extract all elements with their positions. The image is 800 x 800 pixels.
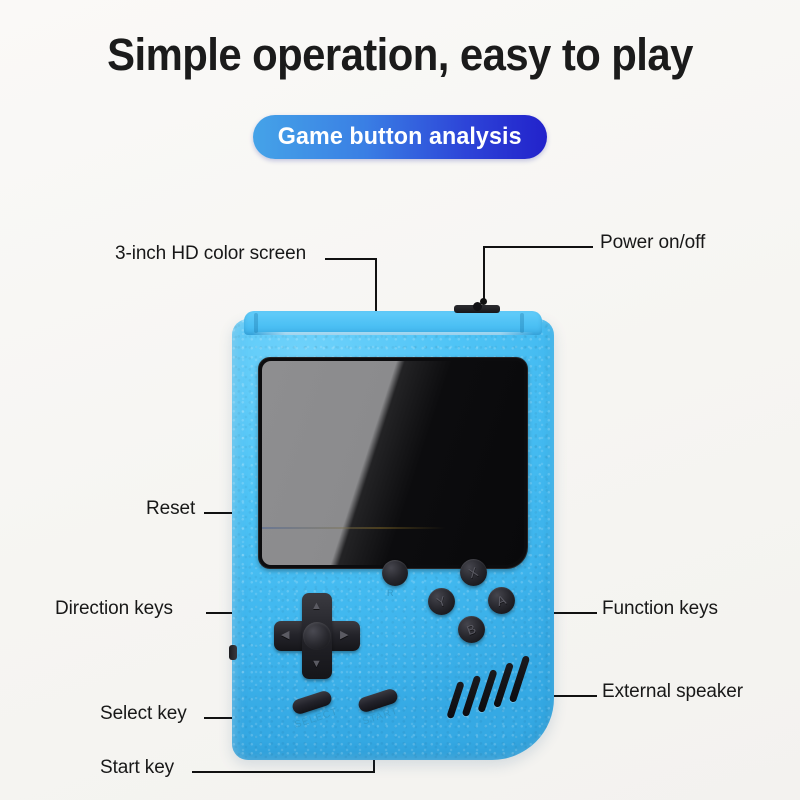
leader-line-power-horizontal: [483, 246, 593, 248]
game-console: ▲ ▼ ◀ ▶ R X Y B A SELECT START: [232, 305, 554, 760]
b-button-label: B: [465, 621, 478, 638]
screen-display: [262, 361, 524, 565]
x-button[interactable]: X: [460, 559, 487, 586]
screen-bezel: [258, 357, 528, 569]
callout-label-reset: Reset: [146, 498, 195, 520]
y-button-label: Y: [435, 593, 448, 610]
callout-label-start: Start key: [100, 757, 174, 779]
a-button-label: A: [495, 592, 508, 609]
power-switch-nub[interactable]: [473, 302, 482, 311]
b-button[interactable]: B: [458, 616, 485, 643]
console-seam: [252, 332, 534, 335]
callout-label-direction: Direction keys: [55, 598, 173, 620]
leader-line-start-horizontal: [192, 771, 375, 773]
section-badge: Game button analysis: [253, 115, 547, 159]
section-badge-label: Game button analysis: [278, 123, 522, 151]
callout-label-speaker: External speaker: [602, 681, 743, 703]
reset-button-label: R: [387, 588, 394, 598]
callout-label-screen: 3-inch HD color screen: [115, 243, 306, 265]
console-notch-right: [520, 313, 524, 333]
side-port: [229, 645, 237, 660]
page-title: Simple operation, easy to play: [28, 26, 772, 84]
dpad-up-icon[interactable]: ▲: [311, 601, 322, 612]
dpad-right-icon[interactable]: ▶: [340, 630, 348, 641]
speaker-slot: [509, 655, 530, 703]
dpad-center[interactable]: [303, 622, 331, 650]
console-notch-left: [254, 313, 258, 333]
screen-gloss-overlay: [262, 361, 524, 565]
speaker-grille: [448, 653, 538, 725]
a-button[interactable]: A: [488, 587, 515, 614]
dpad-left-icon[interactable]: ◀: [281, 630, 289, 641]
callout-label-function: Function keys: [602, 598, 718, 620]
direction-pad[interactable]: ▲ ▼ ◀ ▶: [274, 593, 360, 679]
dpad-down-icon[interactable]: ▼: [311, 659, 322, 670]
x-button-label: X: [467, 564, 480, 581]
screen-edge-reflection: [262, 527, 524, 529]
y-button[interactable]: Y: [428, 588, 455, 615]
leader-line-power-vertical: [483, 246, 485, 302]
infographic-canvas: Simple operation, easy to play Game butt…: [0, 0, 800, 800]
callout-label-select: Select key: [100, 703, 187, 725]
callout-label-power: Power on/off: [600, 232, 705, 254]
leader-line-screen-horizontal: [325, 258, 377, 260]
reset-button[interactable]: [382, 560, 408, 586]
